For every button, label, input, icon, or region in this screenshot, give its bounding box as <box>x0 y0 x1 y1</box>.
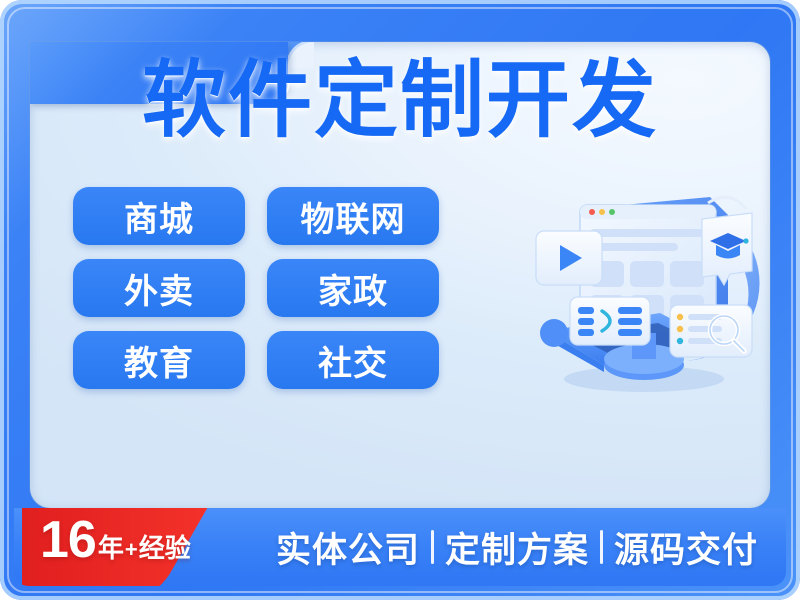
tag-pill-group: 商城 物联网 外卖 家政 教育 社交 <box>73 187 439 389</box>
bottom-feature-bar: 16 年 + 经验 实体公司 定制方案 源码交付 <box>14 508 786 586</box>
window-dot-green <box>609 209 615 215</box>
feature-separator <box>600 530 603 564</box>
tag-pill-housekeeping[interactable]: 家政 <box>267 259 439 317</box>
tag-pill-label: 物联网 <box>301 192 406 241</box>
window-dot-yellow <box>599 209 605 215</box>
experience-badge: 16 年 + 经验 <box>22 508 272 586</box>
tag-pill-social[interactable]: 社交 <box>267 331 439 389</box>
feature-list: 实体公司 定制方案 源码交付 <box>262 508 772 586</box>
tag-pill-education[interactable]: 教育 <box>73 331 245 389</box>
experience-word: 经验 <box>139 528 191 565</box>
feature-separator <box>431 530 434 564</box>
promo-banner: 软件定制开发 商城 物联网 外卖 家政 教育 社交 <box>0 0 800 600</box>
video-card <box>536 231 602 285</box>
feature-item-custom-plan: 定制方案 <box>445 522 589 573</box>
experience-years-number: 16 <box>40 514 96 566</box>
search-card <box>670 305 752 357</box>
tag-pill-label: 外卖 <box>124 264 194 313</box>
tag-pill-takeout[interactable]: 外卖 <box>73 259 245 317</box>
food-card <box>570 297 650 345</box>
window-dot-red <box>589 209 595 215</box>
tag-pill-iot[interactable]: 物联网 <box>267 187 439 245</box>
isometric-monitor-illustration <box>532 175 782 405</box>
tag-pill-label: 商城 <box>124 192 194 241</box>
feature-item-company: 实体公司 <box>276 522 420 573</box>
experience-plus-sign: + <box>125 537 138 563</box>
tag-pill-mall[interactable]: 商城 <box>73 187 245 245</box>
feature-item-source-delivery: 源码交付 <box>614 522 758 573</box>
experience-badge-label: 16 年 + 经验 <box>40 514 191 566</box>
tag-pill-label: 教育 <box>124 336 194 385</box>
page-title: 软件定制开发 <box>0 58 800 142</box>
tag-pill-label: 社交 <box>318 336 388 385</box>
tag-pill-label: 家政 <box>318 264 388 313</box>
experience-years-unit: 年 <box>98 528 124 565</box>
